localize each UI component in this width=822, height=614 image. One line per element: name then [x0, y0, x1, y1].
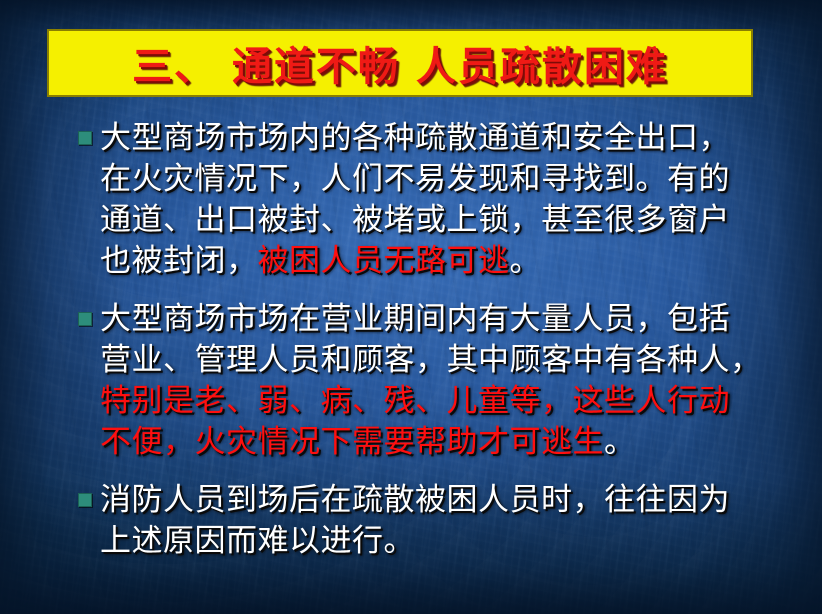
square-bullet-icon	[78, 131, 92, 145]
bullet-spacer	[70, 471, 770, 480]
emphasis-text: 被困人员无路可逃	[258, 243, 510, 279]
bullet-line: 在火灾情况下，人们不易发现和寻找到。有的	[100, 159, 770, 200]
bullet-line: 消防人员到场后在疏散被困人员时，往往因为	[100, 480, 770, 521]
emphasis-text: 特别是老、弱、病、残、儿童等，这些人行动	[100, 383, 730, 419]
slide-title: 三、 通道不畅 人员疏散困难	[132, 34, 668, 92]
body-text: 大型商场市场在营业期间内有大量人员，包括	[100, 301, 730, 337]
bullet-line: 特别是老、弱、病、残、儿童等，这些人行动	[100, 381, 770, 422]
bullet-block: 消防人员到场后在疏散被困人员时，往往因为上述原因而难以进行。	[70, 480, 770, 562]
body-text: 消防人员到场后在疏散被困人员时，往往因为	[100, 482, 730, 518]
body-text: 也被封闭，	[100, 243, 258, 279]
bullet-line: 也被封闭，被困人员无路可逃。	[100, 241, 770, 282]
bullet-line: 营业、管理人员和顾客，其中顾客中有各种人，	[100, 340, 770, 381]
body-text: 。	[604, 424, 636, 460]
bullet-line: 大型商场市场内的各种疏散通道和安全出口，	[100, 118, 770, 159]
body-text: 上述原因而难以进行。	[100, 523, 415, 559]
body-text: 。	[510, 243, 542, 279]
square-bullet-icon	[78, 493, 92, 507]
square-bullet-icon	[78, 312, 92, 326]
presentation-slide: 三、 通道不畅 人员疏散困难 大型商场市场内的各种疏散通道和安全出口，在火灾情况…	[0, 0, 822, 614]
bullet-line: 不便，火灾情况下需要帮助才可逃生。	[100, 422, 770, 463]
bullet-spacer	[70, 290, 770, 299]
emphasis-text: 不便，火灾情况下需要帮助才可逃生	[100, 424, 604, 460]
body-text: 在火灾情况下，人们不易发现和寻找到。有的	[100, 161, 730, 197]
bullet-line: 大型商场市场在营业期间内有大量人员，包括	[100, 299, 770, 340]
body-text: 大型商场市场内的各种疏散通道和安全出口，	[100, 120, 730, 156]
bullet-line: 通道、出口被封、被堵或上锁，甚至很多窗户	[100, 200, 770, 241]
body-text: 通道、出口被封、被堵或上锁，甚至很多窗户	[100, 202, 730, 238]
bullet-block: 大型商场市场在营业期间内有大量人员，包括营业、管理人员和顾客，其中顾客中有各种人…	[70, 299, 770, 463]
slide-body: 大型商场市场内的各种疏散通道和安全出口，在火灾情况下，人们不易发现和寻找到。有的…	[70, 118, 770, 570]
bullet-block: 大型商场市场内的各种疏散通道和安全出口，在火灾情况下，人们不易发现和寻找到。有的…	[70, 118, 770, 282]
body-text: 营业、管理人员和顾客，其中顾客中有各种人，	[100, 342, 762, 378]
title-banner: 三、 通道不畅 人员疏散困难	[47, 29, 753, 97]
bullet-line: 上述原因而难以进行。	[100, 521, 770, 562]
